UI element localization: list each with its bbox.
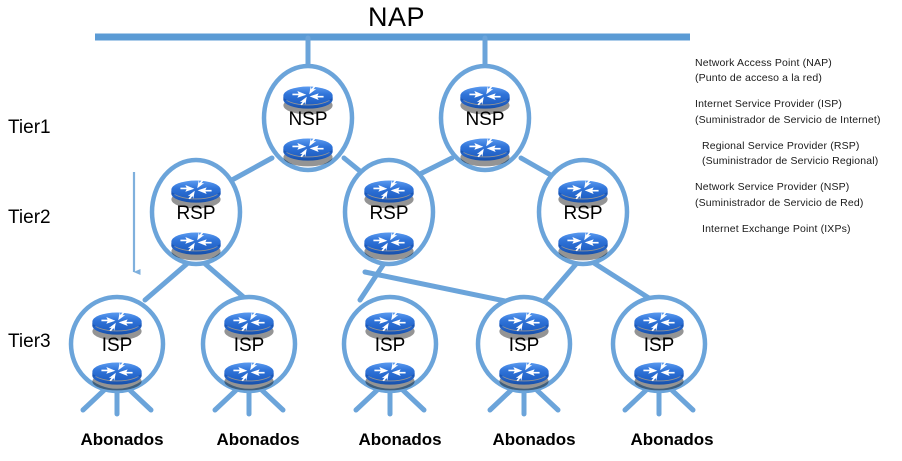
nsp-label-1: NSP [288,110,327,129]
legend-rsp-line-1: Regional Service Provider (RSP) [695,139,900,154]
legend-nsp-line-1: Network Service Provider (NSP) [695,180,900,195]
nsp-label-2: NSP [465,110,504,129]
legend-isp-line-1: Internet Service Provider (ISP) [695,97,900,112]
tier-label-2: Tier2 [8,208,51,227]
isp-label-2: ISP [234,336,265,355]
legend-nsp-line-2: (Suministrador de Servicio de Red) [695,196,900,211]
legend: Network Access Point (NAP) (Punto de acc… [695,56,900,248]
isp-label-3: ISP [375,336,406,355]
subscriber-label-5: Abonados [630,431,713,448]
subscriber-label-4: Abonados [492,431,575,448]
router-icon [460,138,509,167]
legend-nap-line-1: Network Access Point (NAP) [695,56,900,71]
rsp-label-3: RSP [563,204,602,223]
nap-title: NAP [368,4,425,31]
subscriber-label-2: Abonados [216,431,299,448]
router-icon [634,362,683,391]
legend-isp-line-2: (Suministrador de Servicio de Internet) [695,113,900,128]
tier-label-1: Tier1 [8,118,51,137]
legend-rsp-line-2: (Suministrador de Servicio Regional) [695,154,900,169]
router-icon [283,138,332,167]
router-icon [171,232,220,261]
isp-label-4: ISP [509,336,540,355]
subscriber-label-1: Abonados [80,431,163,448]
router-icon [92,362,141,391]
router-icon [364,232,413,261]
router-icon [224,362,273,391]
isp-label-5: ISP [644,336,675,355]
router-icon [558,232,607,261]
legend-entry-nap: Network Access Point (NAP) (Punto de acc… [695,56,900,86]
legend-entry-rsp: Regional Service Provider (RSP) (Suminis… [695,139,900,169]
isp-label-1: ISP [102,336,133,355]
network-hierarchy-diagram: NAP Tier1 Tier2 Tier3 NSP NSP RSP RSP RS… [0,0,902,461]
legend-entry-isp: Internet Service Provider (ISP) (Suminis… [695,97,900,127]
legend-nap-line-2: (Punto de acceso a la red) [695,71,900,86]
legend-entry-ixp: Internet Exchange Point (IXPs) [695,222,900,237]
router-icon [365,362,414,391]
tier-label-3: Tier3 [8,332,51,351]
link-nsp1-rsp1 [232,158,272,180]
subscriber-label-3: Abonados [358,431,441,448]
legend-ixp-line-1: Internet Exchange Point (IXPs) [695,222,900,237]
router-icon [499,362,548,391]
nap-to-nsp-links [308,38,485,72]
rsp-label-1: RSP [176,204,215,223]
legend-entry-nsp: Network Service Provider (NSP) (Suminist… [695,180,900,210]
rsp-label-2: RSP [369,204,408,223]
